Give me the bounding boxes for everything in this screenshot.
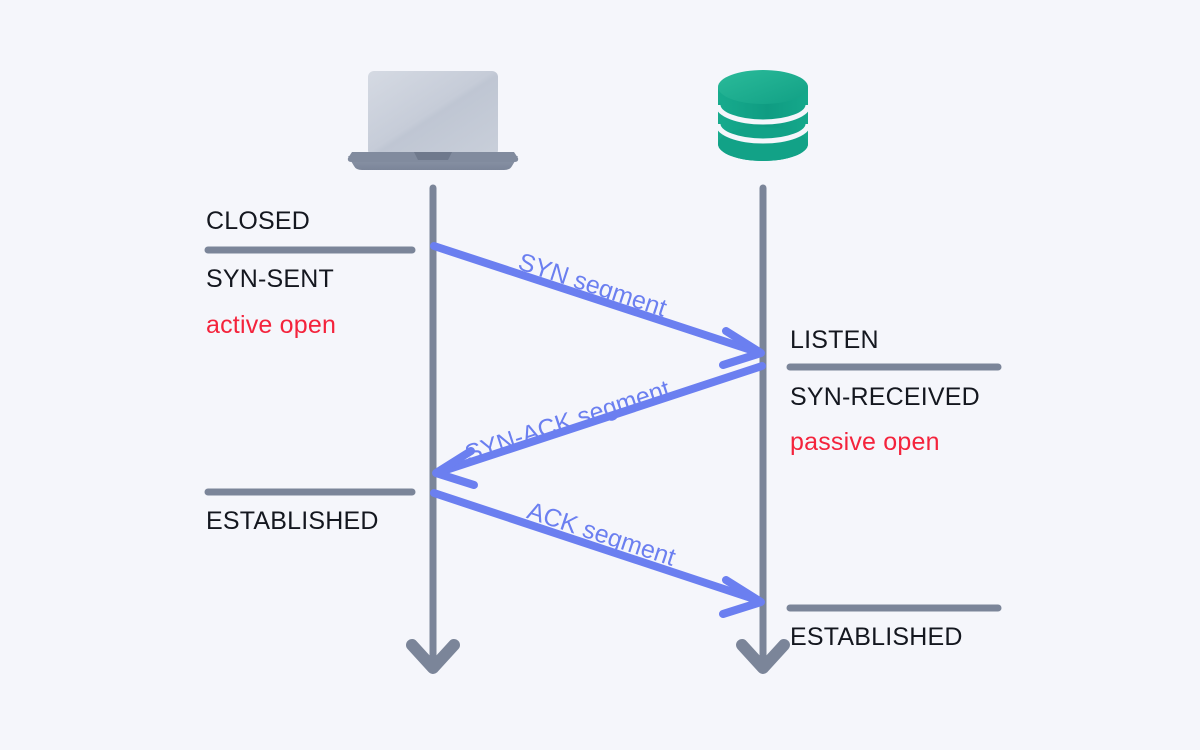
ack-segment-arrow (434, 493, 761, 614)
server-note-passive-open: passive open (790, 430, 940, 455)
server-state-listen: LISTEN (790, 328, 879, 353)
syn-segment-arrow (434, 246, 761, 365)
tcp-handshake-diagram: CLOSED SYN-SENT active open ESTABLISHED … (0, 0, 1200, 750)
server-state-syn-received: SYN-RECEIVED (790, 385, 980, 410)
client-state-syn-sent: SYN-SENT (206, 267, 334, 292)
server-state-established: ESTABLISHED (790, 625, 963, 650)
diagram-canvas (0, 0, 1200, 750)
client-state-closed: CLOSED (206, 209, 310, 234)
database-icon (718, 70, 808, 161)
client-lifeline (412, 188, 454, 668)
client-state-established: ESTABLISHED (206, 509, 379, 534)
client-note-active-open: active open (206, 313, 336, 338)
laptop-icon (348, 71, 518, 170)
